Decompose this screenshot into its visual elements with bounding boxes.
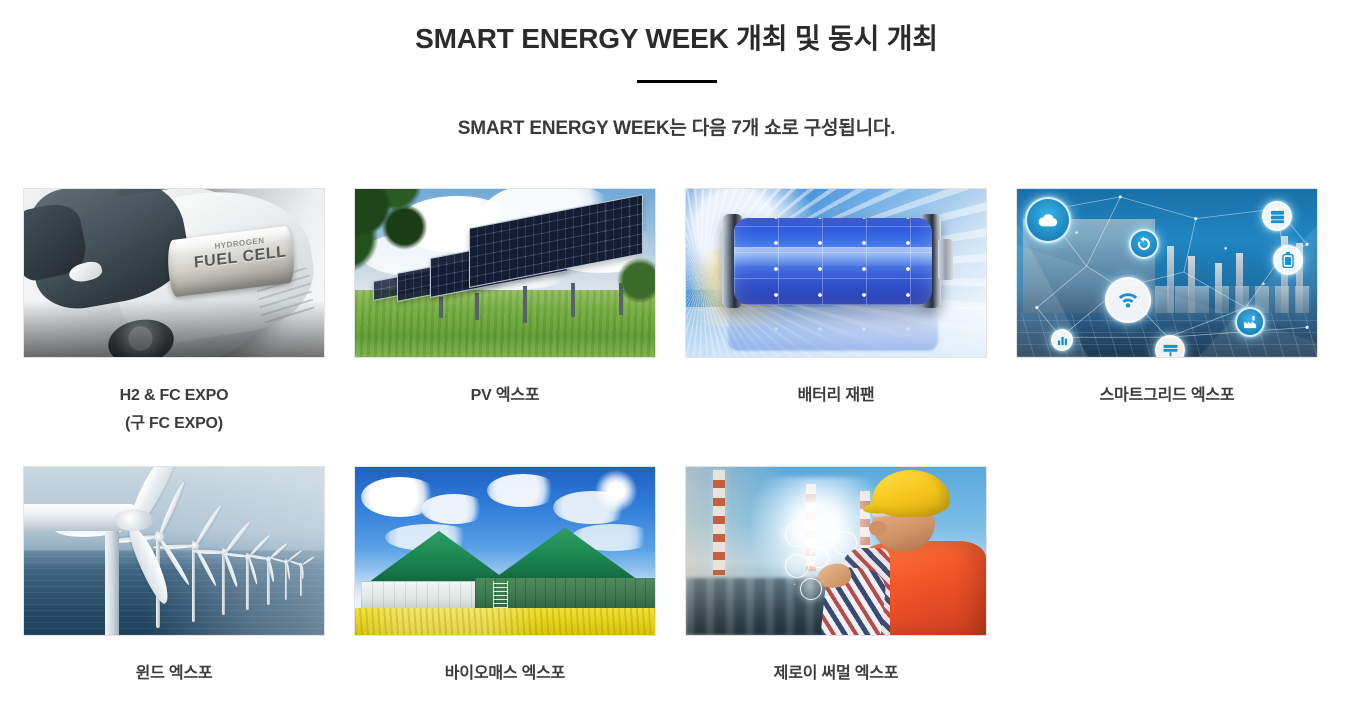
- show-thumbnail-pv-expo[interactable]: [354, 188, 656, 358]
- show-label-wind-expo: 윈드 엑스포: [23, 660, 325, 688]
- show-title: 스마트그리드 엑스포: [1100, 387, 1235, 404]
- show-label-smart-grid-expo: 스마트그리드 엑스포: [1016, 382, 1318, 410]
- show-thumbnail-zero-thermal-expo[interactable]: [685, 466, 987, 636]
- cloud-icon: [1025, 197, 1071, 243]
- show-thumbnail-wind-expo[interactable]: [23, 466, 325, 636]
- factory-icon: [1235, 307, 1265, 337]
- show-title: PV 엑스포: [471, 387, 540, 404]
- wind-turbine-image: [24, 467, 324, 635]
- show-thumbnail-h2-fc-expo[interactable]: HYDROGEN FUEL CELL: [23, 188, 325, 358]
- page-title: SMART ENERGY WEEK 개최 및 동시 개최: [0, 22, 1353, 56]
- show-label-zero-thermal-expo: 제로이 써멀 엑스포: [685, 660, 987, 688]
- show-title: 윈드 엑스포: [136, 665, 213, 682]
- fuel-cell-car-image: HYDROGEN FUEL CELL: [24, 189, 324, 357]
- page-header: SMART ENERGY WEEK 개최 및 동시 개최 SMART ENERG…: [0, 0, 1353, 140]
- hologram-node: [785, 521, 811, 547]
- show-card-battery-japan[interactable]: 배터리 재팬: [685, 188, 987, 438]
- show-thumbnail-battery-japan[interactable]: [685, 188, 987, 358]
- show-thumbnail-smart-grid-expo[interactable]: [1016, 188, 1318, 358]
- server-icon: [1262, 201, 1292, 231]
- zero-thermal-worker-image: [686, 467, 986, 635]
- show-card-pv-expo[interactable]: PV 엑스포: [354, 188, 656, 438]
- page-subtitle: SMART ENERGY WEEK는 다음 7개 쇼로 구성됩니다.: [0, 113, 1353, 140]
- battery-image: [686, 189, 986, 357]
- biomass-plant-image: [355, 467, 655, 635]
- show-card-grid: HYDROGEN FUEL CELL H2 & FC EXPO (구 FC EX…: [23, 188, 1323, 688]
- show-thumbnail-biomass-expo[interactable]: [354, 466, 656, 636]
- show-title: 바이오매스 엑스포: [445, 665, 565, 682]
- refresh-icon: [1129, 229, 1159, 259]
- show-label-biomass-expo: 바이오매스 엑스포: [354, 660, 656, 688]
- show-title: 배터리 재팬: [798, 387, 875, 404]
- page-root: SMART ENERGY WEEK 개최 및 동시 개최 SMART ENERG…: [0, 0, 1353, 717]
- title-divider: [637, 80, 717, 83]
- bar-chart-icon: [1051, 329, 1073, 351]
- smart-grid-image: [1017, 189, 1317, 357]
- show-subtitle: (구 FC EXPO): [23, 410, 325, 438]
- show-label-pv-expo: PV 엑스포: [354, 382, 656, 410]
- show-label-h2-fc-expo: H2 & FC EXPO (구 FC EXPO): [23, 382, 325, 438]
- show-card-zero-thermal-expo[interactable]: 제로이 써멀 엑스포: [685, 466, 987, 688]
- battery-icon: [1273, 245, 1303, 275]
- show-card-biomass-expo[interactable]: 바이오매스 엑스포: [354, 466, 656, 688]
- show-card-wind-expo[interactable]: 윈드 엑스포: [23, 466, 325, 688]
- show-title: H2 & FC EXPO: [120, 387, 229, 404]
- wifi-icon: [1105, 277, 1151, 323]
- hologram-node: [809, 548, 829, 568]
- show-label-battery-japan: 배터리 재팬: [685, 382, 987, 410]
- solar-grid-icon: [1155, 335, 1185, 357]
- show-card-smart-grid-expo[interactable]: 스마트그리드 엑스포: [1016, 188, 1318, 438]
- solar-panel-image: [355, 189, 655, 357]
- show-title: 제로이 써멀 엑스포: [774, 665, 899, 682]
- show-card-h2-fc-expo[interactable]: HYDROGEN FUEL CELL H2 & FC EXPO (구 FC EX…: [23, 188, 325, 438]
